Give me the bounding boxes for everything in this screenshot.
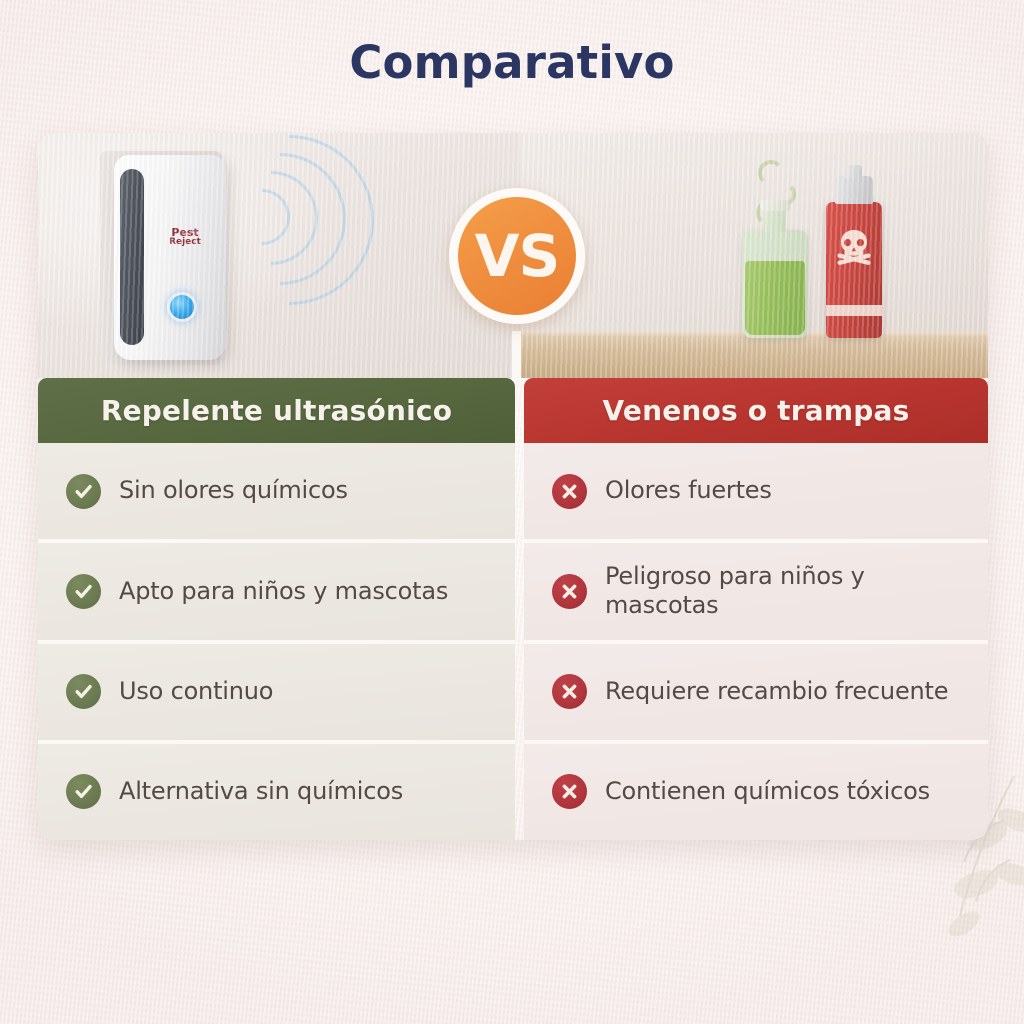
header-divider bbox=[515, 378, 524, 443]
wooden-shelf bbox=[520, 332, 988, 378]
column-poisons: Olores fuertes Peligroso para niños y ma… bbox=[524, 443, 988, 840]
list-item: Contienen químicos tóxicos bbox=[524, 744, 988, 840]
device-side-panel bbox=[120, 169, 144, 345]
cross-icon bbox=[552, 674, 587, 709]
fume-icon bbox=[772, 182, 796, 206]
column-header-poisons: Venenos o trampas bbox=[524, 378, 988, 443]
cross-icon bbox=[552, 774, 587, 809]
list-item: Apto para niños y mascotas bbox=[38, 543, 515, 643]
column-headers: Repelente ultrasónico Venenos o trampas bbox=[38, 378, 988, 443]
comparison-card: Pest Reject bbox=[38, 133, 988, 840]
comparison-rows: Sin olores químicos Apto para niños y ma… bbox=[38, 443, 988, 840]
page-title: Comparativo bbox=[0, 36, 1024, 89]
fume-icon bbox=[758, 160, 784, 186]
list-item: Requiere recambio frecuente bbox=[524, 644, 988, 744]
brand-line-1: Pest bbox=[148, 227, 222, 238]
column-header-ultrasonic-label: Repelente ultrasónico bbox=[101, 394, 452, 427]
bottle-liquid bbox=[745, 261, 805, 335]
bottle-cap bbox=[760, 200, 790, 211]
check-icon bbox=[66, 674, 101, 709]
cross-icon bbox=[552, 574, 587, 609]
vs-badge-stem bbox=[512, 331, 521, 381]
device-brand-label: Pest Reject bbox=[148, 227, 222, 247]
column-ultrasonic: Sin olores químicos Apto para niños y ma… bbox=[38, 443, 515, 840]
vs-label: VS bbox=[475, 227, 560, 285]
spray-can-nozzle bbox=[844, 165, 862, 178]
list-item-label: Uso continuo bbox=[119, 677, 273, 706]
list-item: Peligroso para niños y mascotas bbox=[524, 543, 988, 643]
sound-wave-icon bbox=[222, 177, 301, 256]
brand-line-2: Reject bbox=[148, 238, 222, 247]
spray-can-label-stripe bbox=[826, 305, 882, 316]
wall-background-left bbox=[38, 133, 520, 378]
cross-icon bbox=[552, 474, 587, 509]
sound-wave-icon bbox=[169, 133, 409, 340]
fume-icon bbox=[756, 200, 782, 226]
spray-can bbox=[826, 202, 882, 338]
page-background: Comparativo Pest Reject bbox=[0, 0, 1024, 1024]
list-item-label: Alternativa sin químicos bbox=[119, 777, 403, 806]
list-item-label: Requiere recambio frecuente bbox=[605, 677, 948, 706]
skull-and-crossbones-icon bbox=[835, 228, 873, 270]
device-led-indicator bbox=[167, 292, 197, 322]
list-item-label: Sin olores químicos bbox=[119, 476, 348, 505]
ultrasonic-device: Pest Reject bbox=[114, 155, 226, 360]
check-icon bbox=[66, 474, 101, 509]
list-item: Olores fuertes bbox=[524, 443, 988, 543]
list-item: Uso continuo bbox=[38, 644, 515, 744]
bottle-neck bbox=[764, 208, 786, 232]
column-header-poisons-label: Venenos o trampas bbox=[603, 394, 910, 427]
list-item: Sin olores químicos bbox=[38, 443, 515, 543]
list-item-label: Apto para niños y mascotas bbox=[119, 577, 448, 606]
sound-wave-icon bbox=[187, 133, 374, 312]
wall-background-right bbox=[520, 133, 988, 378]
column-header-ultrasonic: Repelente ultrasónico bbox=[38, 378, 515, 443]
outlet-faceplate bbox=[100, 151, 222, 365]
spray-can-top bbox=[835, 176, 873, 204]
list-item: Alternativa sin químicos bbox=[38, 744, 515, 840]
photo-ultrasonic-repeller: Pest Reject bbox=[38, 133, 520, 378]
list-item-label: Olores fuertes bbox=[605, 476, 772, 505]
sound-wave-icon bbox=[205, 152, 338, 285]
photo-poisons bbox=[520, 133, 988, 378]
list-item-label: Peligroso para niños y mascotas bbox=[605, 562, 966, 621]
check-icon bbox=[66, 774, 101, 809]
poison-bottle bbox=[742, 230, 808, 338]
check-icon bbox=[66, 574, 101, 609]
column-divider bbox=[515, 443, 524, 840]
list-item-label: Contienen químicos tóxicos bbox=[605, 777, 930, 806]
vs-badge: VS bbox=[449, 188, 585, 324]
